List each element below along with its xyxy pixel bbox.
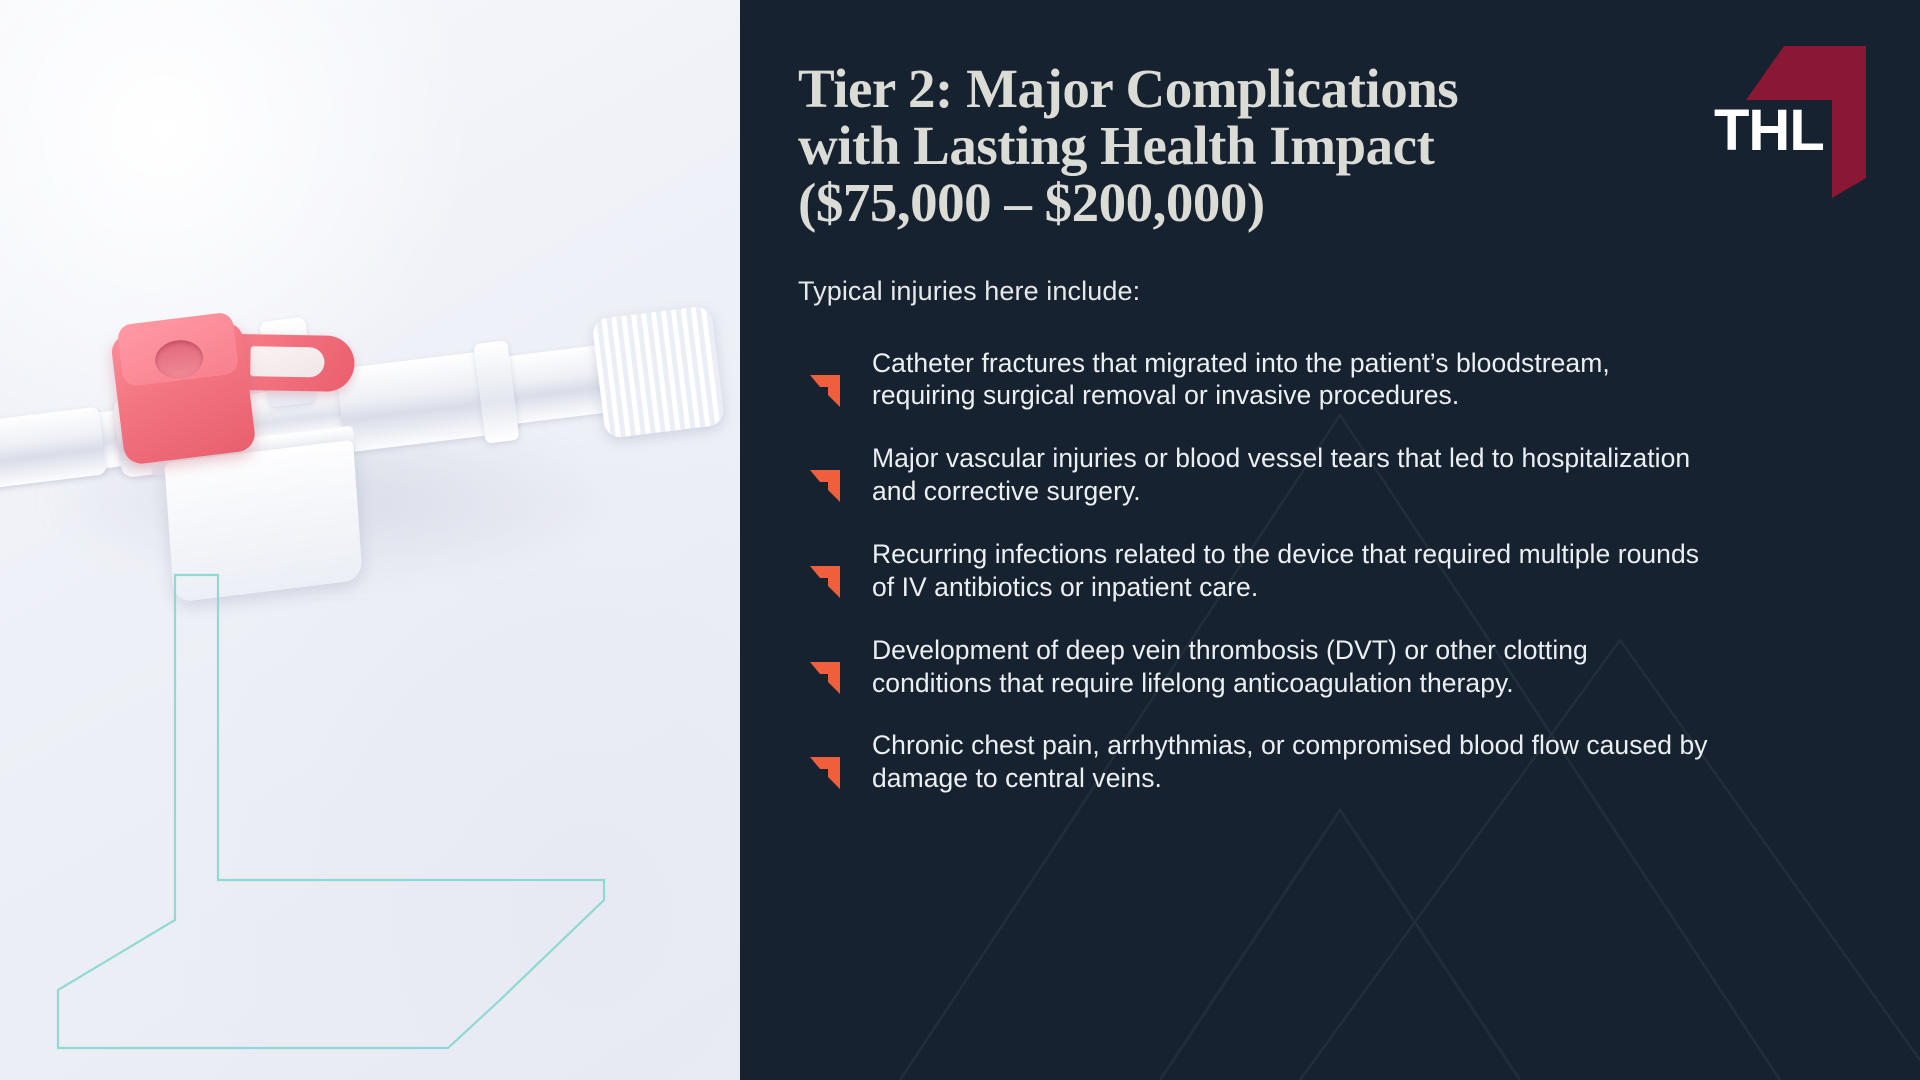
photo-panel <box>0 0 740 1080</box>
bullet-list: Catheter fractures that migrated into th… <box>808 347 1800 796</box>
list-item: Chronic chest pain, arrhythmias, or comp… <box>808 729 1800 795</box>
slide-root: THL Tier 2: Major Complications with Las… <box>0 0 1920 1080</box>
device-segment-a <box>0 407 107 490</box>
corner-arrow-icon <box>808 648 852 694</box>
list-item: Catheter fractures that migrated into th… <box>808 347 1800 413</box>
list-item: Major vascular injuries or blood vessel … <box>808 442 1800 508</box>
list-item-text: Catheter fractures that migrated into th… <box>872 347 1712 413</box>
list-item: Recurring infections related to the devi… <box>808 538 1800 604</box>
list-item-text: Development of deep vein thrombosis (DVT… <box>872 634 1712 700</box>
slide-title: Tier 2: Major Complications with Lasting… <box>798 60 1488 232</box>
list-item-text: Chronic chest pain, arrhythmias, or comp… <box>872 729 1712 795</box>
corner-arrow-icon <box>808 361 852 407</box>
corner-arrow-icon <box>808 456 852 502</box>
corner-arrow-icon <box>808 743 852 789</box>
content-panel: THL Tier 2: Major Complications with Las… <box>740 0 1920 1080</box>
list-item-text: Major vascular injuries or blood vessel … <box>872 442 1712 508</box>
list-item: Development of deep vein thrombosis (DVT… <box>808 634 1800 700</box>
device-wing <box>164 440 362 603</box>
list-item-text: Recurring infections related to the devi… <box>872 538 1712 604</box>
slide-subtitle: Typical injuries here include: <box>798 276 1800 307</box>
content-inner: Tier 2: Major Complications with Lasting… <box>740 0 1920 795</box>
device-cap <box>591 305 725 439</box>
corner-arrow-icon <box>808 552 852 598</box>
